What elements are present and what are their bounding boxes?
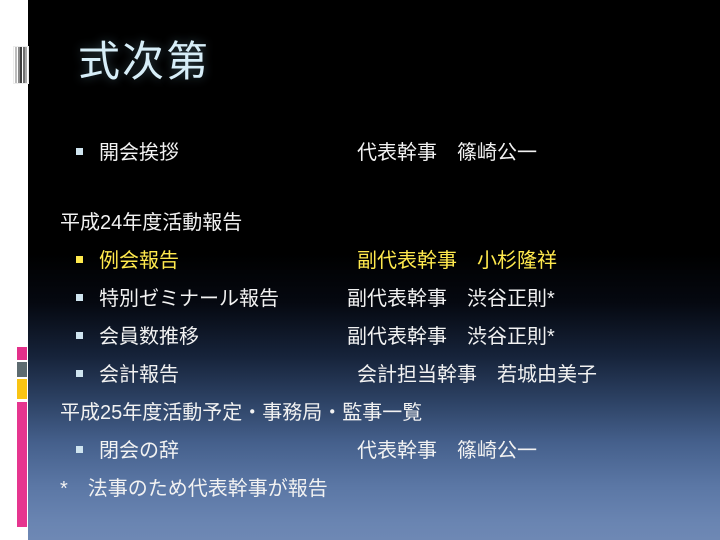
rail-chip-slate xyxy=(17,362,27,377)
section-heading-row: 平成25年度活動予定・事務局・監事一覧 xyxy=(60,396,710,434)
square-bullet-icon xyxy=(76,148,83,155)
slide-body-list: 開会挨拶 代表幹事 篠崎公一 平成24年度活動報告 例会報告 副代表幹事 小杉隆… xyxy=(60,136,710,510)
presentation-slide: 式次第 開会挨拶 代表幹事 篠崎公一 平成24年度活動報告 例会報告 副代表幹事… xyxy=(0,0,720,540)
list-item: 閉会の辞 代表幹事 篠崎公一 xyxy=(60,434,710,472)
list-item-role: 副代表幹事 小杉隆祥 xyxy=(357,244,557,273)
section-heading-label: 平成25年度活動予定・事務局・監事一覧 xyxy=(60,396,422,425)
list-item-label: 会計報告 xyxy=(99,358,357,387)
list-item-role: 副代表幹事 渋谷正則* xyxy=(347,282,555,311)
slide-left-rail xyxy=(0,0,28,540)
list-item: 特別ゼミナール報告 副代表幹事 渋谷正則* xyxy=(60,282,710,320)
list-item: 開会挨拶 代表幹事 篠崎公一 xyxy=(60,136,710,174)
footnote-label: * 法事のため代表幹事が報告 xyxy=(60,472,328,501)
list-item: 会員数推移 副代表幹事 渋谷正則* xyxy=(60,320,710,358)
list-item-label: 特別ゼミナール報告 xyxy=(99,282,347,311)
footnote-row: * 法事のため代表幹事が報告 xyxy=(60,472,710,510)
square-bullet-icon xyxy=(76,446,83,453)
square-bullet-icon xyxy=(76,370,83,377)
square-bullet-icon xyxy=(76,332,83,339)
stripe-ornament-icon xyxy=(14,47,28,83)
list-spacer xyxy=(60,174,710,206)
square-bullet-icon xyxy=(76,256,83,263)
section-heading-row: 平成24年度活動報告 xyxy=(60,206,710,244)
list-item: 会計報告 会計担当幹事 若城由美子 xyxy=(60,358,710,396)
list-item-label: 会員数推移 xyxy=(99,320,347,349)
list-item-role: 代表幹事 篠崎公一 xyxy=(357,136,537,165)
section-heading-label: 平成24年度活動報告 xyxy=(60,206,242,235)
list-item-role: 代表幹事 篠崎公一 xyxy=(357,434,537,463)
rail-chip-pink-top xyxy=(17,347,27,360)
list-item-label: 開会挨拶 xyxy=(99,136,357,165)
slide-title: 式次第 xyxy=(78,38,638,86)
rail-chip-gold xyxy=(17,379,27,399)
list-item-role: 副代表幹事 渋谷正則* xyxy=(347,320,555,349)
list-item-role: 会計担当幹事 若城由美子 xyxy=(357,358,597,387)
list-item-highlighted: 例会報告 副代表幹事 小杉隆祥 xyxy=(60,244,710,282)
square-bullet-icon xyxy=(76,294,83,301)
list-item-label: 閉会の辞 xyxy=(99,434,357,463)
list-item-label: 例会報告 xyxy=(99,244,357,273)
rail-chip-pink-long xyxy=(17,402,27,527)
